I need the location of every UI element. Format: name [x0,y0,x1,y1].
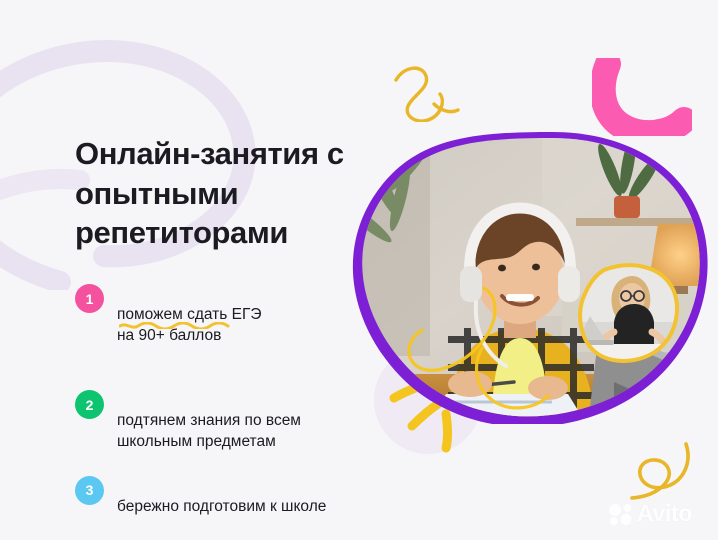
avito-label: Avito [637,500,692,527]
list-item: 3 бережно подготовим к школе [75,475,375,517]
avito-watermark: Avito [608,500,692,527]
benefits-list: 1 поможем сдать ЕГЭ на 90+ баллов 2 подт… [75,283,375,517]
page-title: Онлайн-занятия с опытными репетиторами [75,134,365,253]
list-item: 2 подтянем знания по всем школьным предм… [75,389,375,452]
benefit-text-2: подтянем знания по всем школьным предмет… [117,389,301,452]
badge-number-1: 1 [75,284,104,313]
yellow-squiggle-top-decoration [392,60,478,122]
badge-number-3: 3 [75,476,104,505]
pink-crescent-decoration [592,58,692,136]
wavy-underline-icon [119,322,243,329]
badge-number-2: 2 [75,390,104,419]
benefit-label-2: подтянем знания по всем школьным предмет… [117,412,301,450]
student-photo [352,126,718,424]
benefit-label-3: бережно подготовим к школе [117,498,326,515]
benefit-text-1: поможем сдать ЕГЭ на 90+ баллов [117,283,262,367]
benefit-text-3: бережно подготовим к школе [117,475,326,517]
yellow-squiggle-bottom-decoration [614,436,700,506]
avito-dots-icon [608,503,634,525]
tutoring-promo-banner: Онлайн-занятия с опытными репетиторами 1… [0,0,718,540]
list-item: 1 поможем сдать ЕГЭ на 90+ баллов [75,283,375,367]
